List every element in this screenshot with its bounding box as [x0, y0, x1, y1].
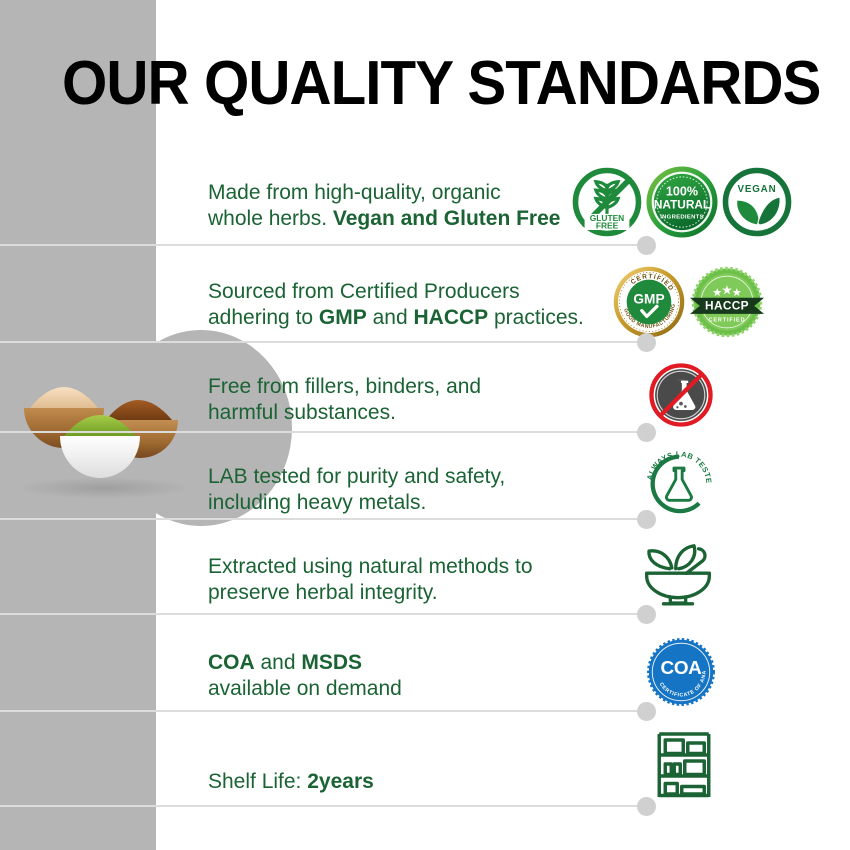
row-divider-2: [0, 341, 646, 343]
row-no-fillers-text: Free from fillers, binders, and harmful …: [208, 374, 481, 426]
gmp-center-text: GMP: [633, 291, 664, 306]
row-no-fillers: Free from fillers, binders, and harmful …: [156, 362, 850, 432]
row-organic-herbs-line1: Made from high-quality, organic: [208, 180, 560, 206]
row-coa-msds: COA and MSDS available on demand: [156, 636, 850, 710]
row-shelf-life: Shelf Life: 2years: [156, 735, 850, 805]
row-divider-5: [0, 613, 646, 615]
divider-dot-2: [637, 333, 656, 352]
row-coa-msds-line2: available on demand: [208, 676, 402, 702]
shelf-life-normal: Shelf Life:: [208, 770, 307, 793]
part-normal-3: practices.: [488, 306, 584, 329]
always-lab-tested-badge: ALWAYS LAB TESTED: [643, 448, 715, 514]
row-organic-herbs-line2: whole herbs. Vegan and Gluten Free: [208, 206, 560, 232]
haccp-certified-badge: CERTIFIED HACCP: [690, 266, 764, 338]
haccp-sub: CERTIFIED: [709, 318, 746, 324]
part-normal-2: and: [367, 306, 414, 329]
part-bold-haccp: HACCP: [413, 306, 488, 329]
row-shelf-life-line1: Shelf Life: 2years: [208, 769, 374, 795]
row-natural-extraction: Extracted using natural methods to prese…: [156, 540, 850, 613]
divider-dot-7: [637, 797, 656, 816]
divider-dot-1: [637, 236, 656, 255]
natural-line2: NATURAL: [654, 198, 710, 212]
mortar-and-pestle-icon: [636, 538, 720, 610]
row-natural-extraction-line1: Extracted using natural methods to: [208, 554, 533, 580]
row-no-fillers-line2: harmful substances.: [208, 400, 481, 426]
gmp-certified-badge: CERTIFIED GOOD MANUFACTURING PRACTICE GM…: [613, 266, 685, 338]
infographic-page: OUR QUALITY STANDARDS Made from high-qua…: [0, 0, 850, 850]
row-natural-extraction-line2: preserve herbal integrity.: [208, 580, 533, 606]
coa-bold: COA: [208, 651, 255, 674]
row-coa-msds-text: COA and MSDS available on demand: [208, 650, 402, 702]
row-lab-tested-line2: including heavy metals.: [208, 490, 505, 516]
row-divider-4: [0, 518, 646, 520]
line2-normal: whole herbs.: [208, 207, 333, 230]
row-certified-producers-text: Sourced from Certified Producers adherin…: [208, 279, 584, 331]
row-natural-extraction-text: Extracted using natural methods to prese…: [208, 554, 533, 606]
vegan-badge: VEGAN: [722, 167, 792, 237]
divider-dot-6: [637, 702, 656, 721]
row-divider-6: [0, 710, 646, 712]
divider-dot-5: [637, 605, 656, 624]
line2-bold: Vegan and Gluten Free: [333, 207, 561, 230]
vegan-label: VEGAN: [737, 184, 776, 195]
natural-line1: 100%: [666, 184, 698, 198]
row-lab-tested-line1: LAB tested for purity and safety,: [208, 464, 505, 490]
row-shelf-life-text: Shelf Life: 2years: [208, 769, 374, 795]
coa-label: COA: [661, 658, 703, 679]
page-title: OUR QUALITY STANDARDS: [62, 52, 776, 116]
row-lab-tested: LAB tested for purity and safety, includ…: [156, 452, 850, 518]
row-divider-1: [0, 244, 646, 246]
divider-dot-3: [637, 423, 656, 442]
coa-badge: COA CERTIFICATE OF ANALYSIS: [646, 637, 716, 707]
row-organic-herbs-text: Made from high-quality, organic whole he…: [208, 180, 560, 232]
no-chemicals-icon: [645, 359, 717, 431]
shelf-life-bold: 2years: [307, 770, 374, 793]
and-normal: and: [255, 651, 302, 674]
part-bold-gmp: GMP: [319, 306, 367, 329]
row-lab-tested-text: LAB tested for purity and safety, includ…: [208, 464, 505, 516]
100-natural-ingredients-badge: 100% NATURAL INGREDIENTS: [645, 165, 719, 239]
row-divider-3: [0, 431, 646, 433]
part-normal-1: adhering to: [208, 306, 319, 329]
row-certified-producers-line1: Sourced from Certified Producers: [208, 279, 584, 305]
row-certified-producers-line2: adhering to GMP and HACCP practices.: [208, 305, 584, 331]
haccp-label: HACCP: [705, 299, 749, 313]
shelf-rack-icon: [650, 728, 718, 800]
row-divider-7: [0, 805, 646, 807]
gluten-free-badge: GLUTEN FREE: [572, 167, 642, 237]
msds-bold: MSDS: [301, 651, 362, 674]
divider-dot-4: [637, 510, 656, 529]
row-no-fillers-line1: Free from fillers, binders, and: [208, 374, 481, 400]
natural-line3: INGREDIENTS: [660, 214, 704, 220]
gluten-free-line2: FREE: [596, 221, 619, 231]
row-coa-msds-line1: COA and MSDS: [208, 650, 402, 676]
